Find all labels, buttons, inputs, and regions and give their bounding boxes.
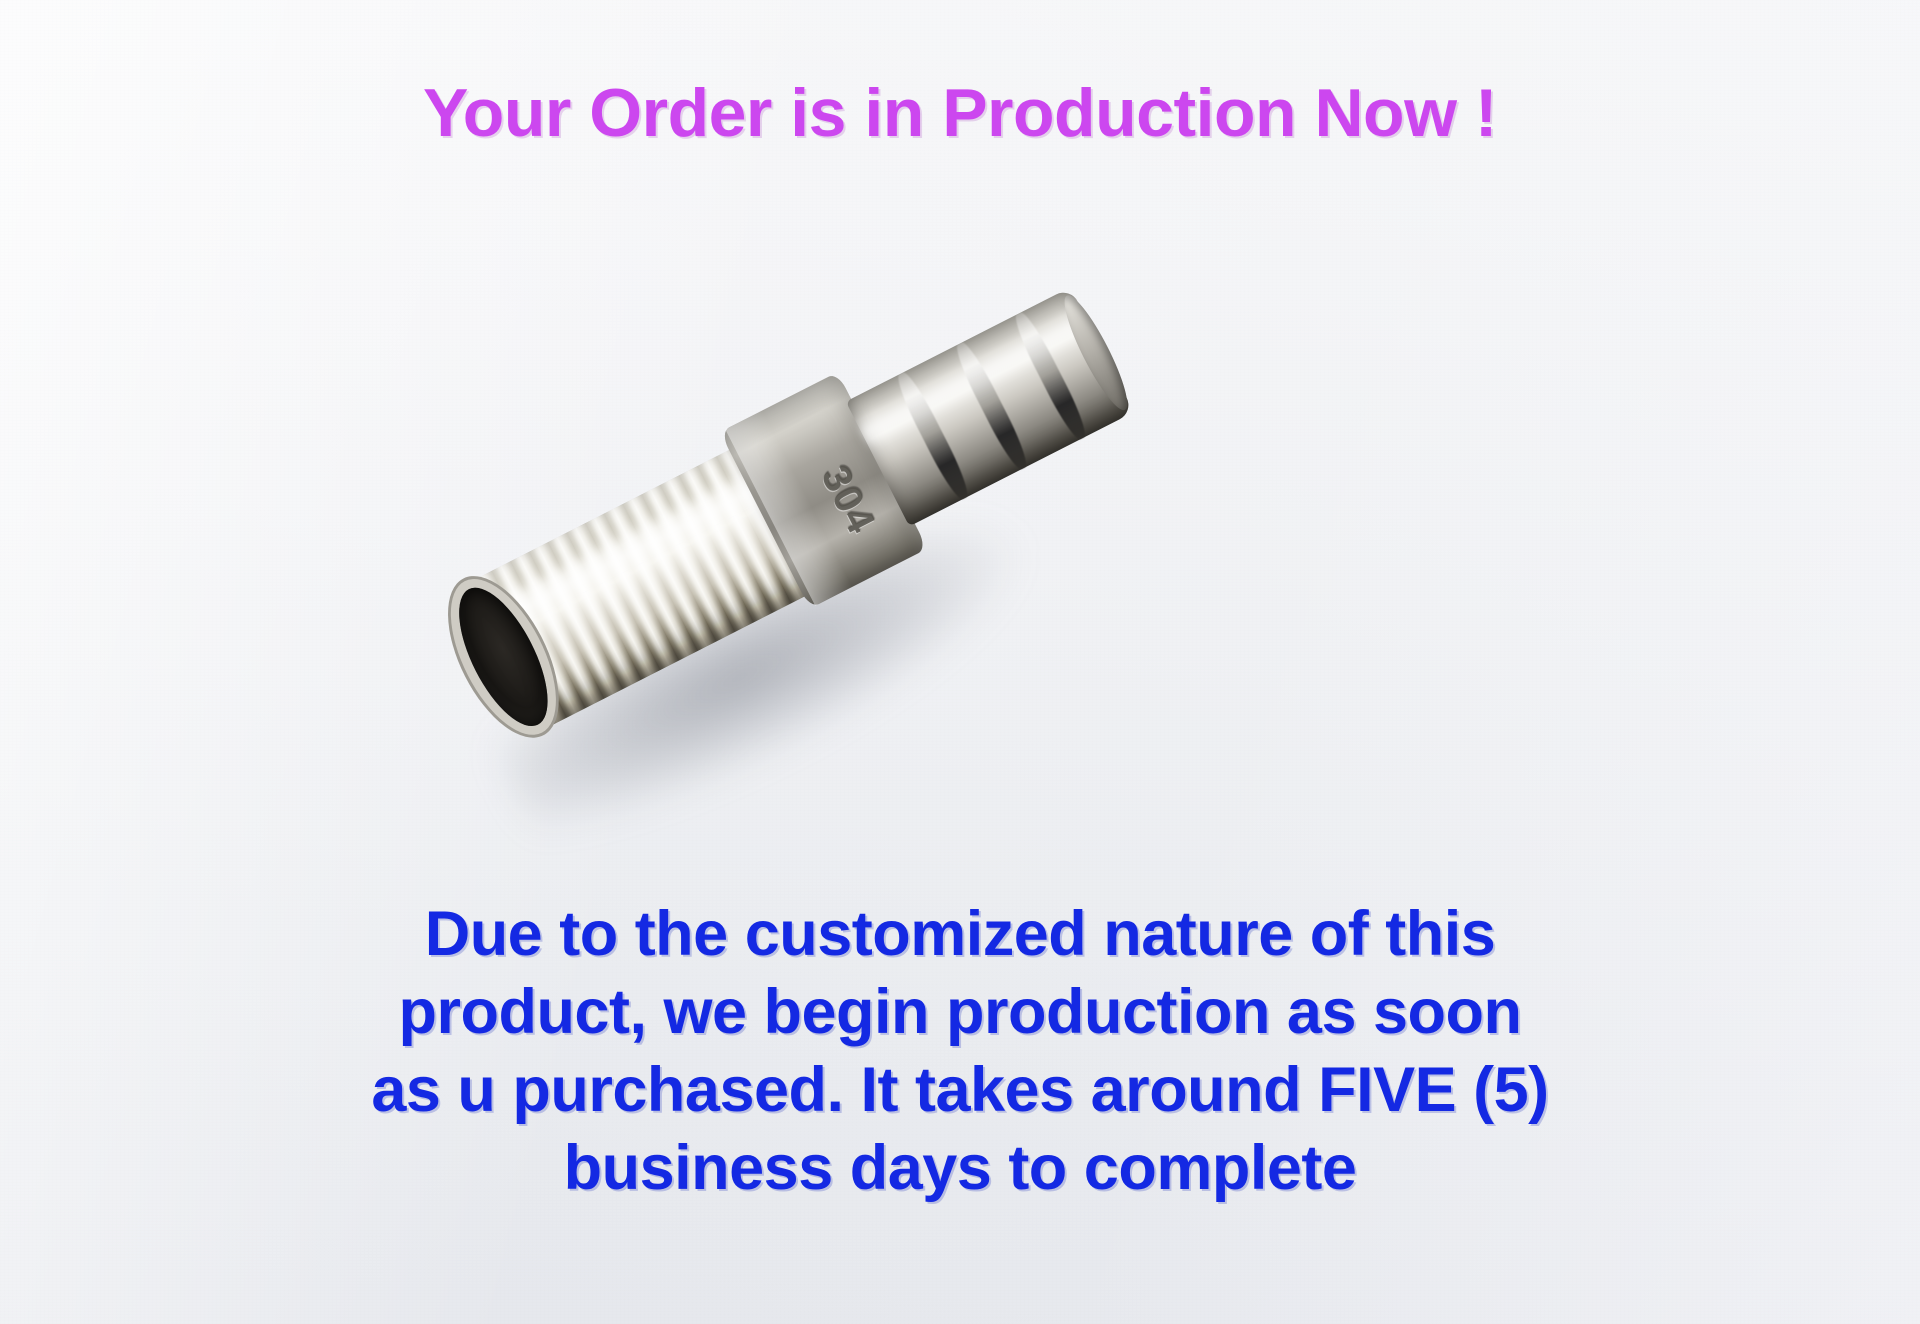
production-notice-text: Due to the customized nature of this pro… [0, 895, 1920, 1207]
notice-line-2: product, we begin production as soon [0, 973, 1920, 1051]
notice-line-4: business days to complete [0, 1129, 1920, 1207]
product-photo: 304 [430, 280, 1190, 780]
product-photo-inner: 304 [430, 280, 1190, 780]
headline-order-in-production: Your Order is in Production Now ! [0, 74, 1920, 152]
notice-line-1: Due to the customized nature of this [0, 895, 1920, 973]
notice-line-3: as u purchased. It takes around FIVE (5) [0, 1051, 1920, 1129]
material-grade-stamp: 304 [812, 459, 884, 542]
notice-image-canvas: Your Order is in Production Now ! 304 [0, 0, 1920, 1324]
